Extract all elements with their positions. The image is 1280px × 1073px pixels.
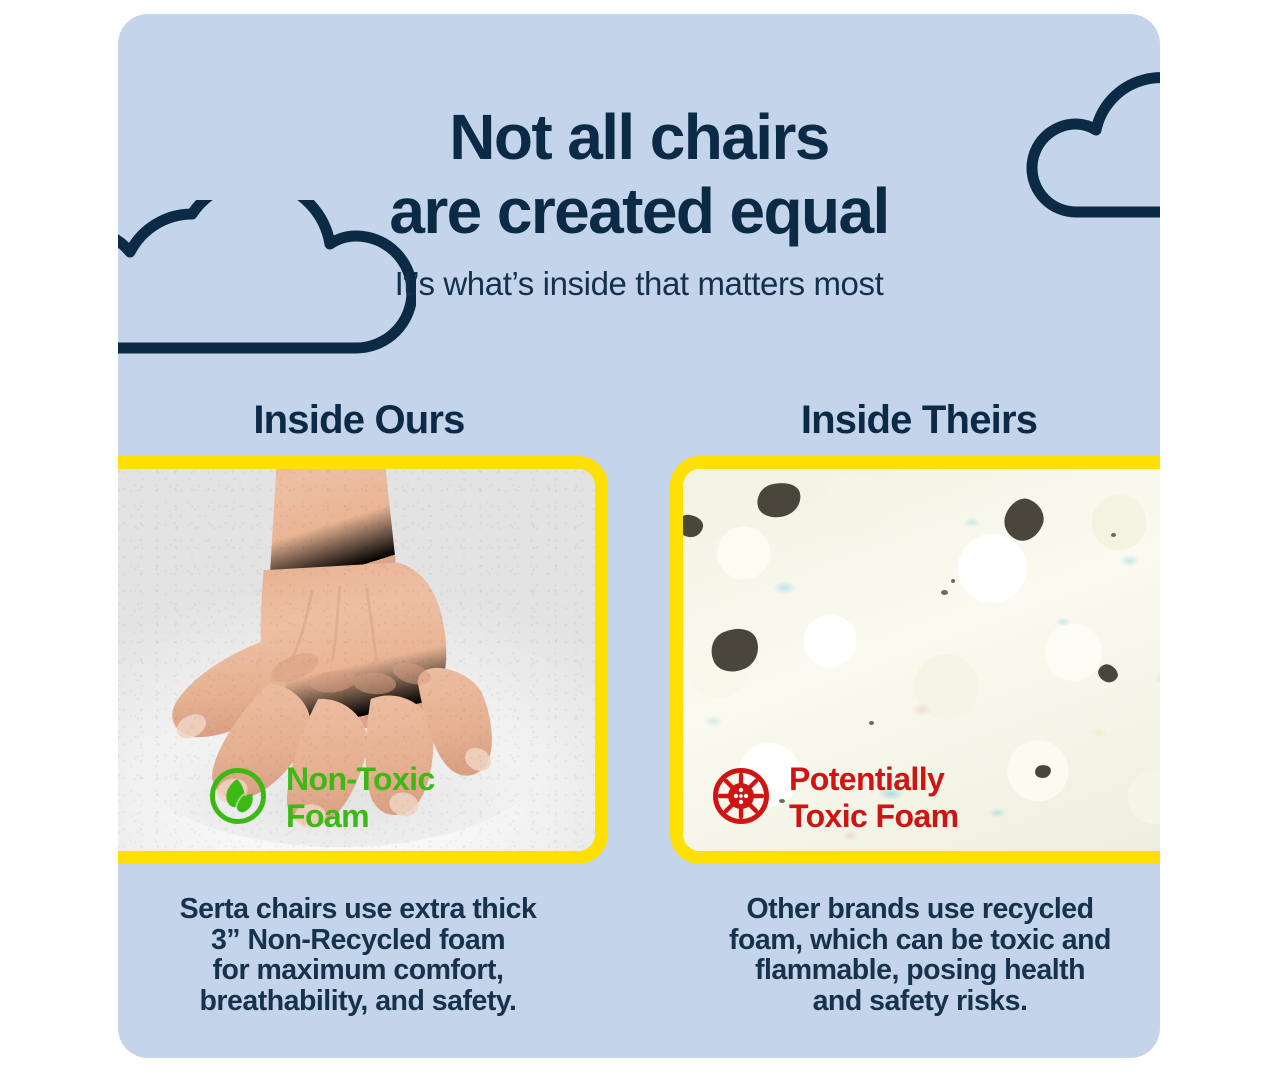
headline-block: Not all chairs are created equal It’s wh…: [118, 100, 1160, 304]
column-title-ours: Inside Ours: [118, 396, 608, 444]
foam-frame-ours: Non-Toxic Foam: [118, 456, 608, 864]
infographic-card: Not all chairs are created equal It’s wh…: [118, 14, 1160, 1058]
captions-row: Serta chairs use extra thick 3” Non-Recy…: [118, 894, 1160, 1044]
headline-line-1: Not all chairs: [118, 100, 1160, 174]
foam-frame-theirs: Potentially Toxic Foam: [670, 456, 1160, 864]
column-title-theirs: Inside Theirs: [670, 396, 1160, 444]
badge-label-theirs: Potentially Toxic Foam: [789, 761, 958, 835]
caption-ours: Serta chairs use extra thick 3” Non-Recy…: [118, 894, 608, 1016]
caption-theirs: Other brands use recycled foam, which ca…: [670, 894, 1160, 1016]
badge-potentially-toxic-foam: Potentially Toxic Foam: [711, 761, 958, 835]
badge-non-toxic-foam: Non-Toxic Foam: [208, 761, 435, 835]
column-inside-ours: Inside Ours: [118, 396, 608, 896]
leaf-circle-icon: [208, 766, 268, 831]
column-inside-theirs: Inside Theirs: [670, 396, 1160, 896]
badge-label-ours: Non-Toxic Foam: [286, 761, 435, 835]
subheadline: It’s what’s inside that matters most: [118, 264, 1160, 304]
comparison-row: Inside Ours: [118, 396, 1160, 896]
headline-line-2: are created equal: [118, 174, 1160, 248]
virus-circle-icon: [711, 766, 771, 831]
